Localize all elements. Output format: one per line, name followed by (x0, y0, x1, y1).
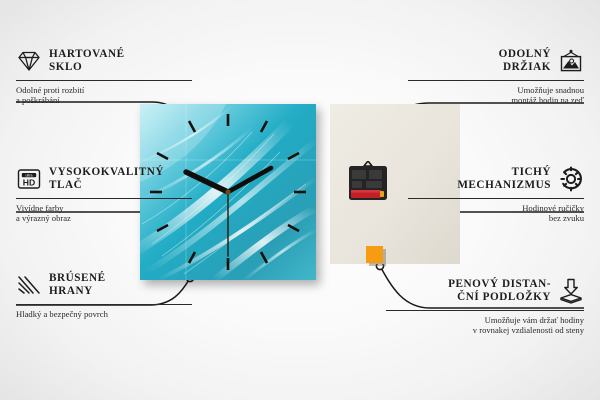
feature-subtitle: Odolné proti rozbití (16, 85, 192, 96)
infographic-canvas: HARTOVANÉ SKLO Odolné proti rozbití a po… (0, 0, 600, 400)
feature-subtitle: Hladký a bezpečný povrch (16, 309, 192, 320)
feature-subtitle-2: v rovnakej vzdialenosti od steny (386, 325, 584, 336)
feature-polished-edges: BRÚSENÉ HRANY Hladký a bezpečný povrch (16, 272, 192, 319)
feature-subtitle-2: a výrazný obraz (16, 213, 192, 224)
feature-title-2: ČNÍ PODLOŽKY (448, 291, 551, 304)
feature-title-2: TLAČ (49, 179, 164, 192)
divider (16, 80, 192, 81)
feature-subtitle-2: montáž hodin na zeď (408, 95, 584, 106)
feature-title-2: SKLO (49, 61, 125, 74)
divider (16, 198, 192, 199)
divider (408, 80, 584, 81)
feature-subtitle-2: bez zvuku (408, 213, 584, 224)
feature-title-2: HRANY (49, 285, 106, 298)
foam-spacer-pad (366, 246, 386, 266)
ultra-hd-icon: ultra HD (16, 166, 42, 192)
feature-durable-hanger: ODOLNÝ DRŽIAK Umožňuje snadnou montáž ho… (408, 48, 584, 106)
feature-title-2: MECHANIZMUS (457, 179, 551, 192)
feature-foam-spacers: PENOVÝ DISTAN- ČNÍ PODLOŽKY Umožňuje vám… (386, 278, 584, 336)
divider (408, 198, 584, 199)
feature-title: VYSOKOKVALITNÝ (49, 166, 164, 179)
feature-title: PENOVÝ DISTAN- (448, 278, 551, 291)
clock-mechanism (347, 161, 389, 205)
feature-title: ODOLNÝ (499, 48, 551, 61)
diamond-icon (16, 48, 42, 74)
feature-title: HARTOVANÉ (49, 48, 125, 61)
press-down-pad-icon (558, 278, 584, 304)
picture-frame-hanger-icon (558, 48, 584, 74)
feature-title-2: DRŽIAK (499, 61, 551, 74)
feature-subtitle: Umožňuje snadnou (408, 85, 584, 96)
feature-tempered-glass: HARTOVANÉ SKLO Odolné proti rozbití a po… (16, 48, 192, 106)
feature-subtitle: Umožňuje vám držať hodiny (386, 315, 584, 326)
diagonal-lines-icon (16, 272, 42, 298)
feature-subtitle-2: a poškrábání (16, 95, 192, 106)
feature-title: BRÚSENÉ (49, 272, 106, 285)
svg-text:HD: HD (23, 178, 35, 188)
feature-high-quality-print: ultra HD VYSOKOKVALITNÝ TLAČ Vivídne far… (16, 166, 192, 224)
feature-subtitle: Vivídne farby (16, 203, 192, 214)
gear-icon (558, 166, 584, 192)
feature-subtitle: Hodinové ručičky (408, 203, 584, 214)
divider (386, 310, 584, 311)
feature-silent-mechanism: TICHÝ MECHANIZMUS Hodinové ručičky bez z… (408, 166, 584, 224)
feature-title: TICHÝ (457, 166, 551, 179)
divider (16, 304, 192, 305)
